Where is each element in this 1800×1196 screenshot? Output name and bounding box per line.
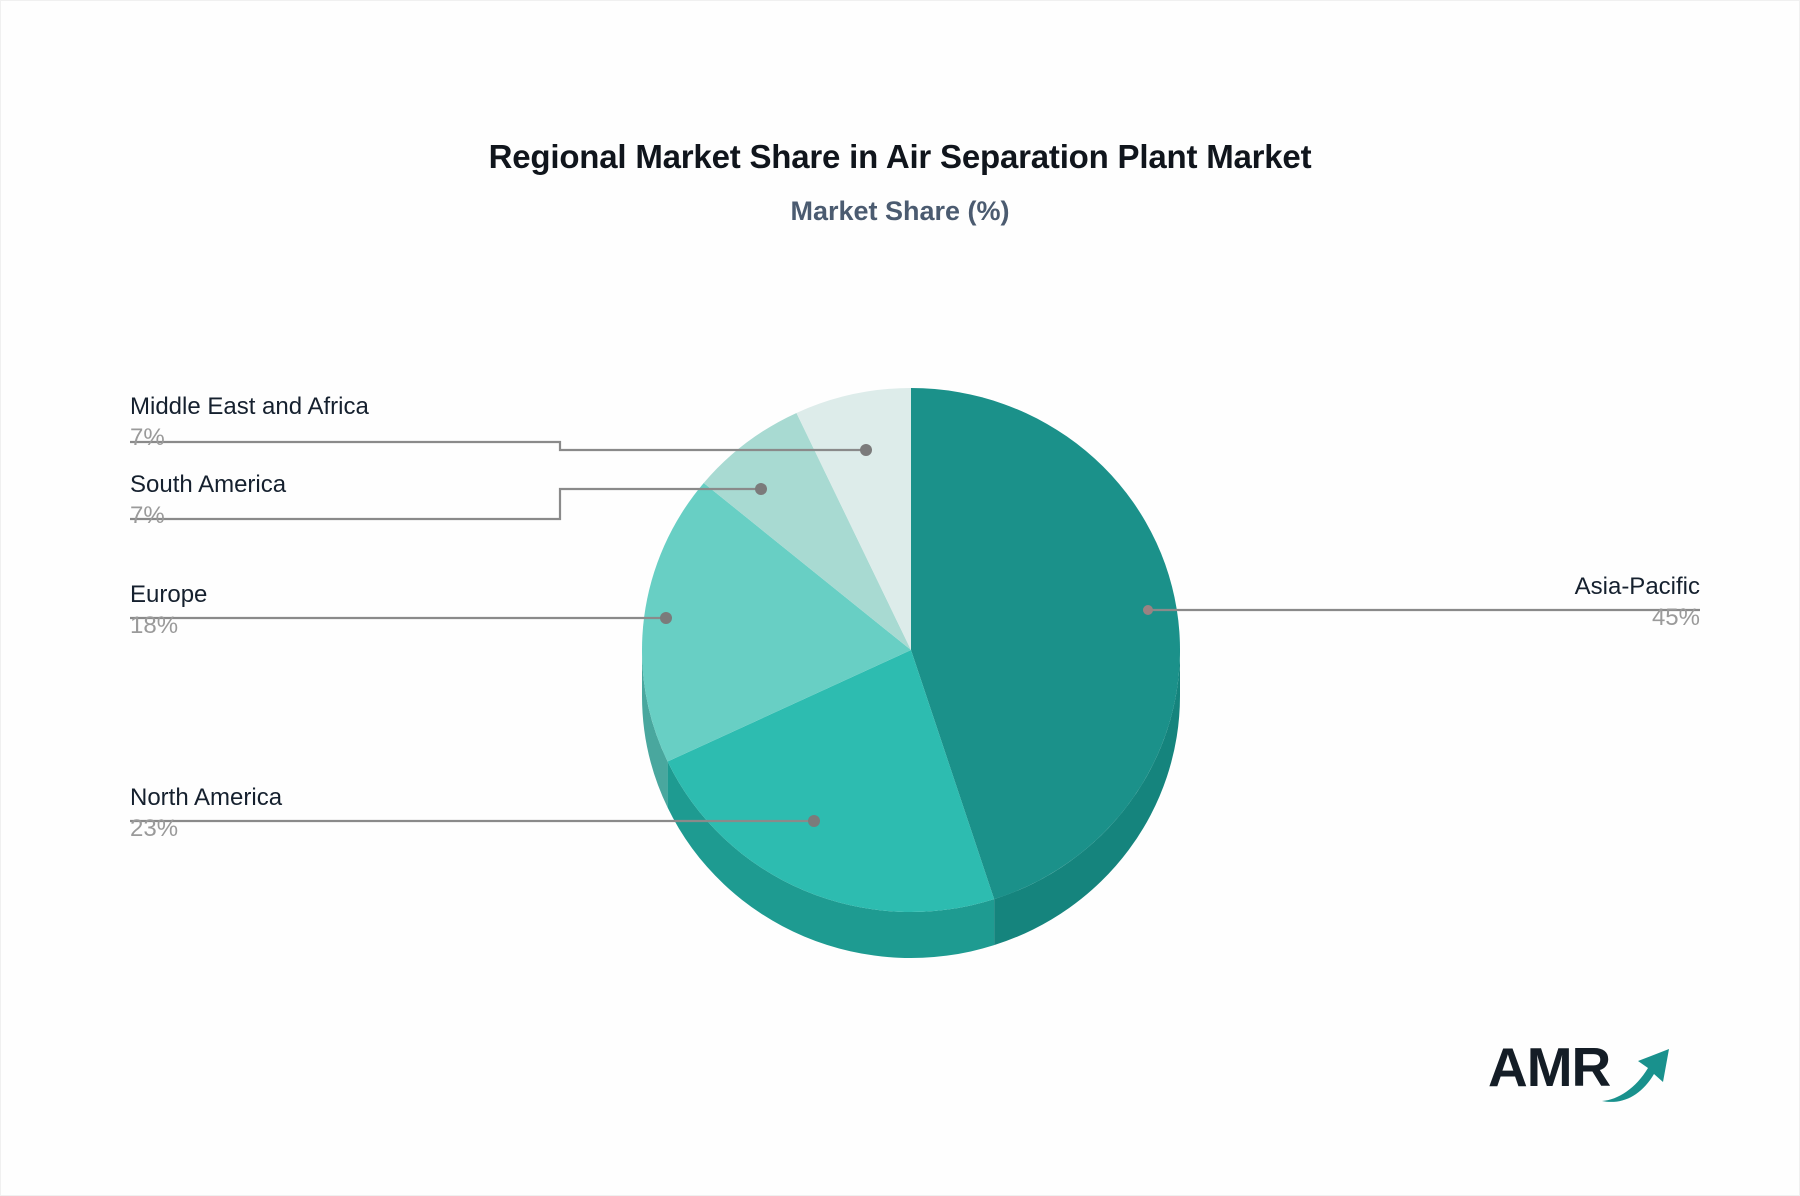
callout-asia-pacific[interactable]: Asia-Pacific 45% — [1575, 572, 1700, 634]
callout-value-middle-east-and-africa: 7% — [130, 422, 369, 454]
callout-value-asia-pacific: 45% — [1575, 602, 1700, 634]
leader-dot-europe — [660, 612, 672, 624]
leader-dot-south-america — [755, 483, 767, 495]
pie-slices — [642, 388, 1180, 912]
callout-value-north-america: 23% — [130, 813, 282, 845]
callout-value-europe: 18% — [130, 610, 207, 642]
callout-label-asia-pacific: Asia-Pacific — [1575, 572, 1700, 602]
callout-europe[interactable]: Europe 18% — [130, 580, 207, 642]
amr-logo[interactable]: AMR — [1488, 1036, 1668, 1112]
callout-south-america[interactable]: South America 7% — [130, 470, 286, 532]
callout-label-middle-east-and-africa: Middle East and Africa — [130, 392, 369, 422]
growth-arrow-icon — [1600, 1044, 1672, 1106]
leader-dot-north-america — [808, 815, 820, 827]
leader-dot-asia-pacific — [1143, 605, 1153, 615]
amr-logo-text: AMR — [1488, 1040, 1610, 1095]
callout-label-north-america: North America — [130, 783, 282, 813]
pie-chart-canvas — [0, 0, 1800, 1196]
callout-value-south-america: 7% — [130, 500, 286, 532]
leader-dot-middle-east-and-africa — [860, 444, 872, 456]
callout-middle-east-and-africa[interactable]: Middle East and Africa 7% — [130, 392, 369, 454]
callout-north-america[interactable]: North America 23% — [130, 783, 282, 845]
callout-label-europe: Europe — [130, 580, 207, 610]
callout-label-south-america: South America — [130, 470, 286, 500]
